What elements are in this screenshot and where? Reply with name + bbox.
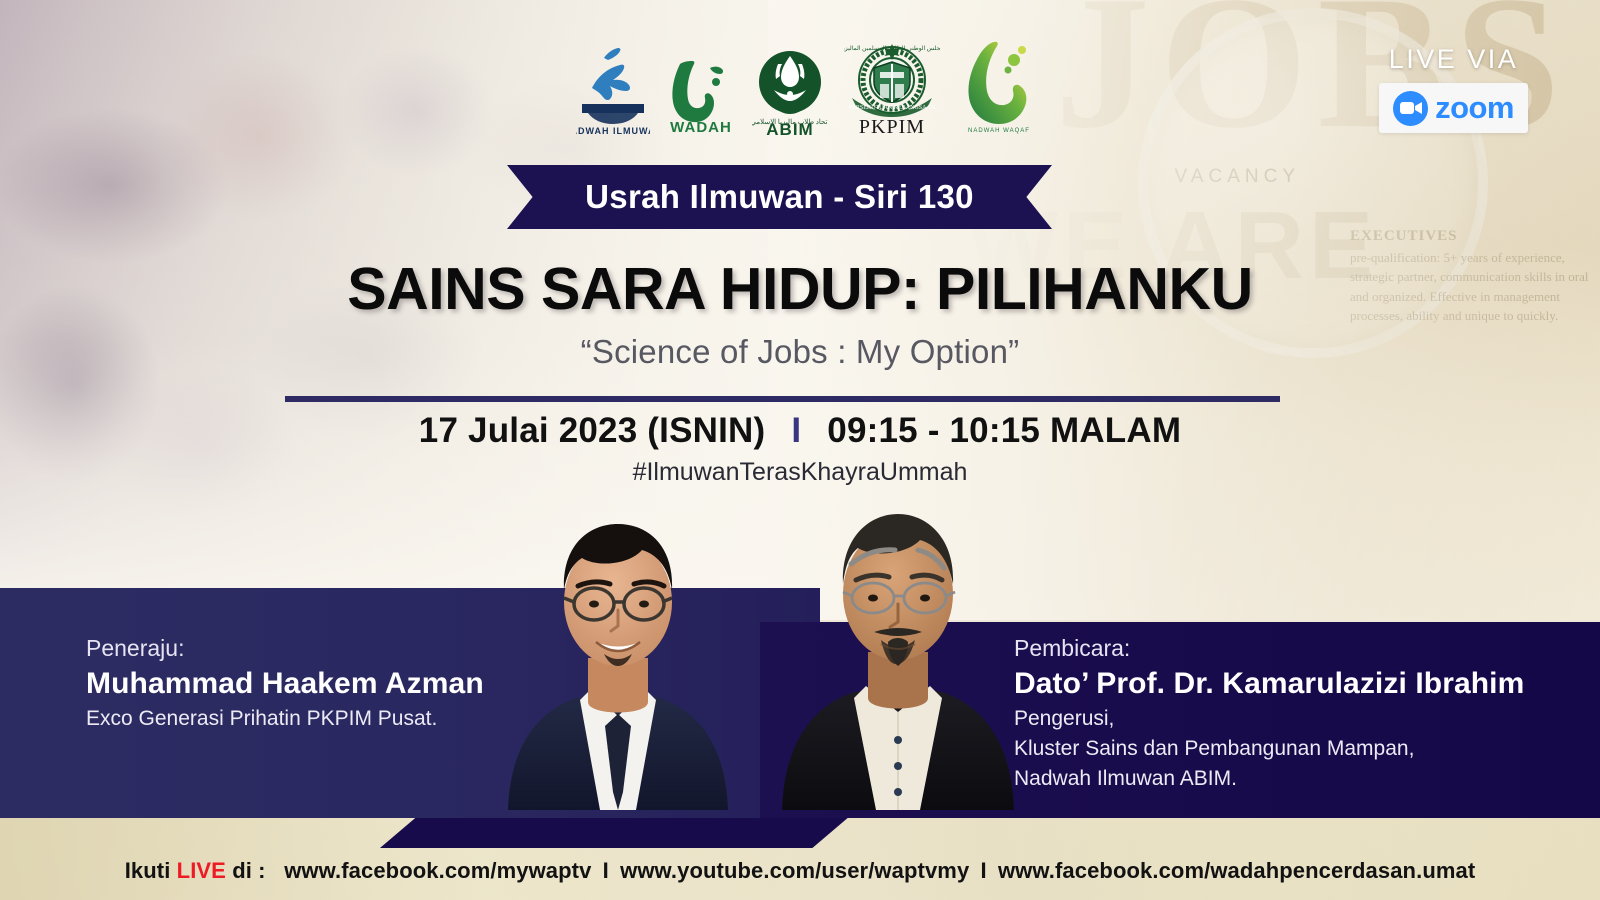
zoom-badge[interactable]: zoom <box>1379 83 1528 133</box>
moderator-name: Muhammad Haakem Azman <box>86 664 484 703</box>
footer-separator-2: I <box>976 858 992 883</box>
svg-text:WADAH: WADAH <box>670 119 732 136</box>
nadwah-ilmuwan-mark: NADWAH ILMUWAN <box>576 44 650 136</box>
footer-bar: Ikuti LIVE di : www.facebook.com/mywaptv… <box>0 818 1600 900</box>
speaker-photo <box>748 490 1048 810</box>
event-date: 17 Julai 2023 (ISNIN) <box>419 411 766 451</box>
speaker-role-label: Pembicara: <box>1014 634 1524 663</box>
moderator-title: Exco Generasi Prihatin PKPIM Pusat. <box>86 705 484 733</box>
footer-live-word: LIVE <box>177 858 226 883</box>
svg-text:المجلس الوطني للطلاب المسلمين: المجلس الوطني للطلاب المسلمين الماليزيين <box>844 45 940 52</box>
organization-logos: NADWAH ILMUWAN WADAH <box>576 36 1042 136</box>
series-banner-label: Usrah Ilmuwan - Siri 130 <box>507 165 1052 229</box>
logo-pkpim: المجلس الوطني للطلاب المسلمين الماليزيين… <box>844 36 940 136</box>
event-hashtag: #IlmuwanTerasKhayraUmmah <box>0 458 1600 487</box>
footer-links-line: Ikuti LIVE di : www.facebook.com/mywaptv… <box>0 858 1600 884</box>
svg-text:PKPIM: PKPIM <box>859 116 925 136</box>
title-divider <box>285 396 1280 402</box>
svg-text:NADWAH WAQAF: NADWAH WAQAF <box>968 128 1030 134</box>
speaker-title-line-1: Pengerusi, <box>1014 705 1524 733</box>
zoom-wordmark: zoom <box>1435 90 1514 126</box>
nadwah-waqaf-mark: NADWAH WAQAF <box>956 40 1042 136</box>
event-datetime: 17 Julai 2023 (ISNIN) I 09:15 - 10:15 MA… <box>0 411 1600 451</box>
footer-link-facebook-wadah[interactable]: www.facebook.com/wadahpencerdasan.umat <box>998 858 1475 883</box>
footer-link-youtube-waptvmy[interactable]: www.youtube.com/user/waptvmy <box>620 858 969 883</box>
live-via-block: LIVE VIA zoom <box>1379 44 1528 133</box>
footer-navy-wedge <box>380 818 850 848</box>
logo-wadah: WADAH <box>666 56 736 136</box>
speaker-name: Dato’ Prof. Dr. Kamarulazizi Ibrahim <box>1014 664 1524 703</box>
moderator-photo <box>468 498 768 810</box>
event-subtitle: “Science of Jobs : My Option” <box>0 333 1600 371</box>
logo-nadwah-waqaf: NADWAH WAQAF <box>956 40 1042 136</box>
event-time: 09:15 - 10:15 MALAM <box>827 411 1181 451</box>
event-poster: JOBS VACANCY WE ARE EXECUTIVES pre-quali… <box>0 0 1600 900</box>
footer-separator-1: I <box>598 858 614 883</box>
logo-abim: اتحاد طلاب ماليزيا الإسلامي ABIM <box>752 44 828 136</box>
moderator-info: Peneraju: Muhammad Haakem Azman Exco Gen… <box>86 634 484 733</box>
event-title: SAINS SARA HIDUP: PILIHANKU <box>0 255 1600 323</box>
speaker-info: Pembicara: Dato’ Prof. Dr. Kamarulazizi … <box>1014 634 1524 793</box>
svg-text:ABIM: ABIM <box>766 120 813 136</box>
wadah-mark: WADAH <box>666 56 736 136</box>
svg-text:PERSEKUTUAN KEBANGSAAN: PERSEKUTUAN KEBANGSAAN <box>849 105 936 111</box>
live-via-label: LIVE VIA <box>1379 44 1528 75</box>
speaker-title-line-2: Kluster Sains dan Pembangunan Mampan, <box>1014 735 1524 763</box>
speaker-title-line-3: Nadwah Ilmuwan ABIM. <box>1014 765 1524 793</box>
series-banner: Usrah Ilmuwan - Siri 130 <box>507 165 1052 229</box>
zoom-camera-icon <box>1393 91 1428 126</box>
logo-nadwah-ilmuwan: NADWAH ILMUWAN <box>576 44 650 136</box>
footer-prefix: Ikuti <box>125 858 171 883</box>
footer-di-word: di : <box>232 858 265 883</box>
pkpim-mark: المجلس الوطني للطلاب المسلمين الماليزيين… <box>844 36 940 136</box>
svg-text:NADWAH ILMUWAN: NADWAH ILMUWAN <box>576 126 650 136</box>
moderator-role-label: Peneraju: <box>86 634 484 663</box>
abim-mark: اتحاد طلاب ماليزيا الإسلامي ABIM <box>752 44 828 136</box>
datetime-separator: I <box>791 411 801 451</box>
footer-link-facebook-mywaptv[interactable]: www.facebook.com/mywaptv <box>284 858 591 883</box>
